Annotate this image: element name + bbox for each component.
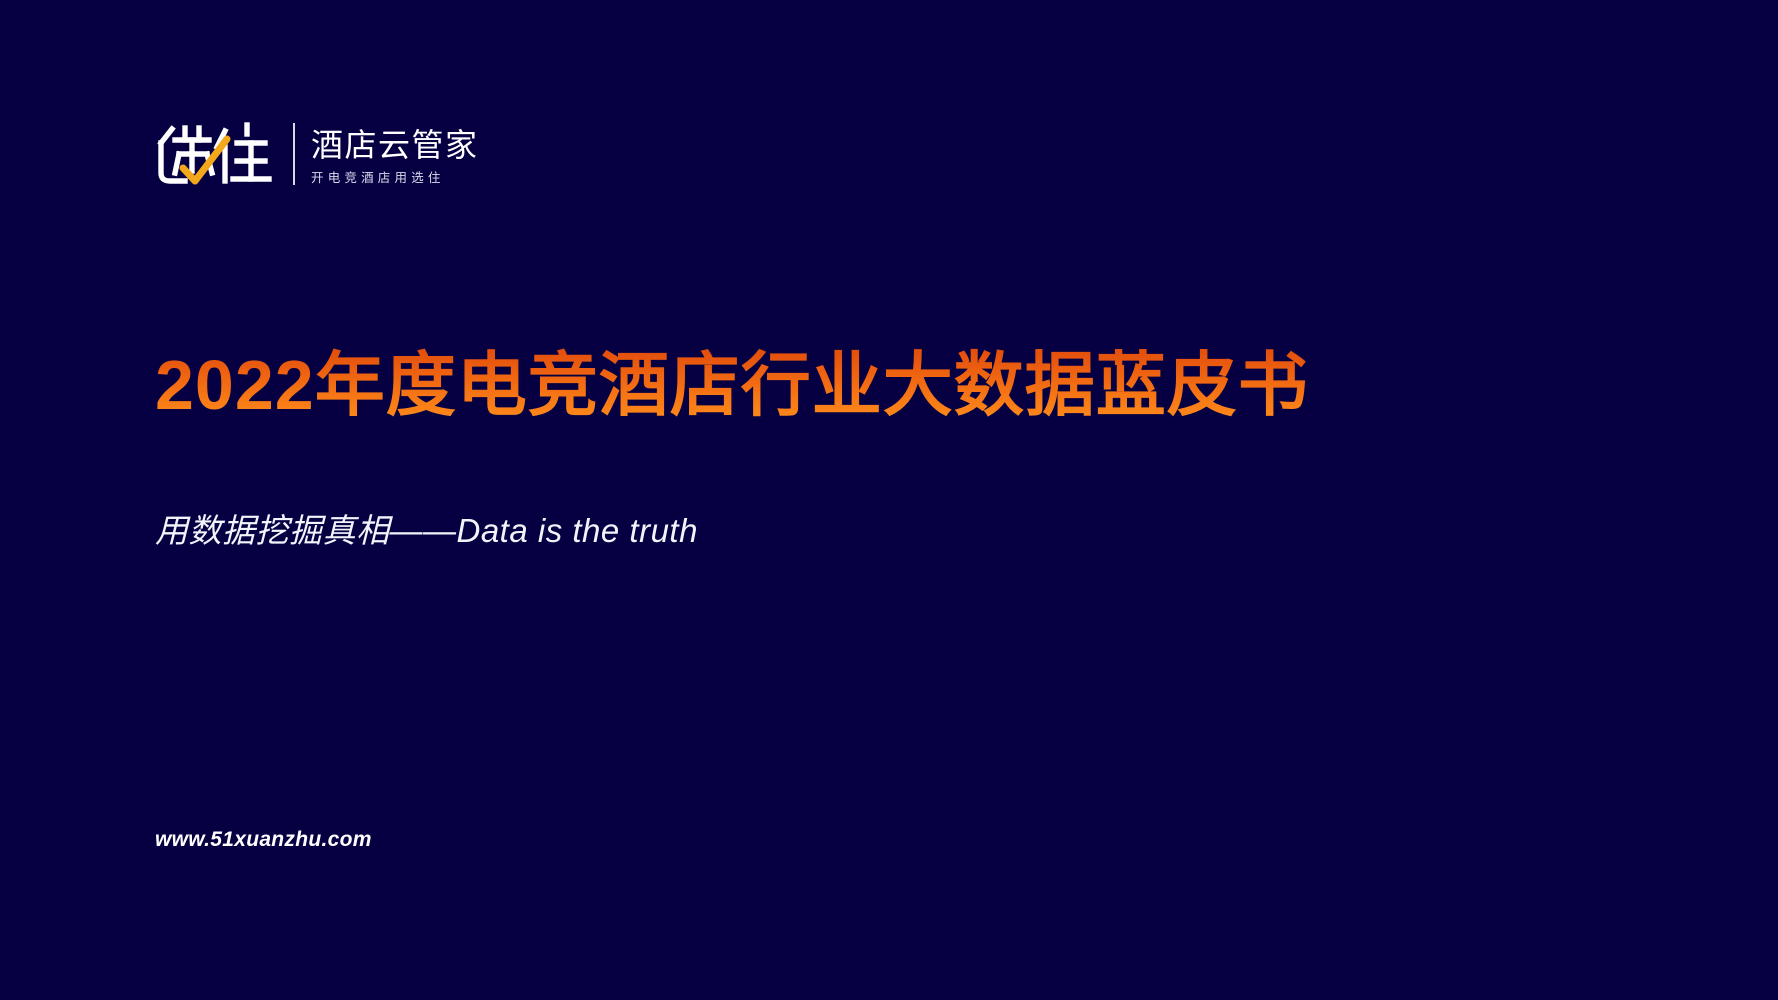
logo-mark-xuanzhu: [155, 121, 277, 187]
logo-text-block: 酒店云管家 开电竞酒店用选住: [311, 115, 479, 187]
title-slide: 酒店云管家 开电竞酒店用选住 2022年度电竞酒店行业大数据蓝皮书 用数据挖掘真…: [0, 0, 1778, 1000]
logo-brand-tagline: 开电竞酒店用选住: [311, 172, 479, 186]
logo-divider: [293, 123, 295, 185]
footer-website-url: www.51xuanzhu.com: [155, 828, 372, 852]
page-subtitle: 用数据挖掘真相——Data is the truth: [155, 510, 698, 551]
brand-logo-lockup: 酒店云管家 开电竞酒店用选住: [155, 103, 479, 187]
logo-brand-name: 酒店云管家: [311, 128, 479, 164]
page-title: 2022年度电竞酒店行业大数据蓝皮书: [155, 344, 1309, 427]
